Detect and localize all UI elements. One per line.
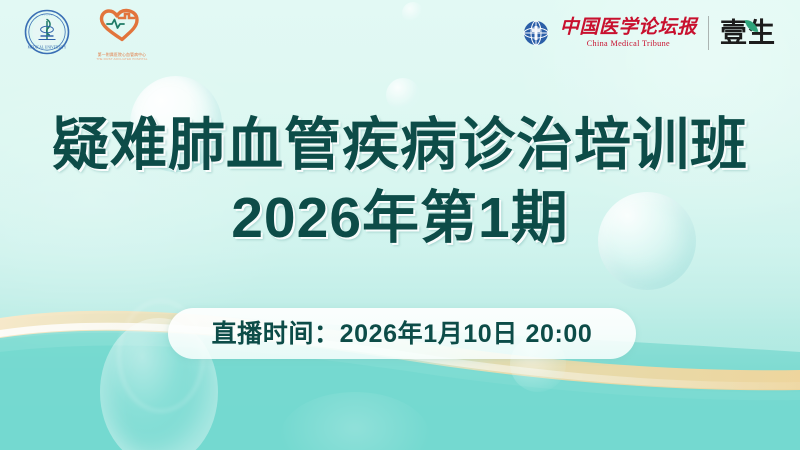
page-title-line-2: 2026年第1期: [0, 186, 800, 250]
bubble-decoration: [386, 78, 420, 112]
university-seal-logo: MEDICAL UNIVERSITY · · · · · ·: [24, 9, 70, 55]
globe-icon: [523, 20, 549, 46]
live-time-banner: 直播时间：2026年1月10日 20:00: [168, 308, 636, 359]
cmt-title-en: China Medical Tribune: [587, 39, 670, 48]
live-event-poster: MEDICAL UNIVERSITY · · · · · · 第一附属医院心血管…: [0, 0, 800, 450]
cmt-title-cn: 中国医学论坛报: [560, 18, 697, 38]
live-time-text: 直播时间：2026年1月10日 20:00: [212, 321, 593, 347]
logo-divider: [708, 16, 709, 50]
heart-with-cross-icon: [89, 8, 155, 42]
circular-seal-icon: MEDICAL UNIVERSITY · · · · · ·: [24, 9, 70, 55]
svg-text:MEDICAL UNIVERSITY: MEDICAL UNIVERSITY: [28, 45, 67, 49]
hospital-logo-subtitle-cn: 第一附属医院心血管病中心: [87, 52, 157, 57]
bubble-decoration: [280, 392, 430, 450]
header-right-logos: 中国医学论坛报 China Medical Tribune 壹生: [523, 16, 776, 50]
page-title-line-1: 疑难肺血管疾病诊治培训班: [0, 113, 800, 177]
bubble-decoration: [402, 2, 424, 24]
poster-title-block: 疑难肺血管疾病诊治培训班 2026年第1期: [0, 113, 800, 250]
hospital-heart-logo: 第一附属医院心血管病中心 THE FIRST AFFILIATED HOSPIT…: [84, 8, 160, 56]
china-medical-tribune-logo: 中国医学论坛报 China Medical Tribune: [560, 18, 697, 48]
header-left-logos: MEDICAL UNIVERSITY · · · · · · 第一附属医院心血管…: [24, 8, 160, 56]
hospital-logo-subtitle-en: THE FIRST AFFILIATED HOSPITAL: [87, 57, 157, 62]
svg-text:· · · · · ·: · · · · · ·: [42, 14, 52, 18]
yisheng-logo: 壹生: [720, 18, 776, 48]
